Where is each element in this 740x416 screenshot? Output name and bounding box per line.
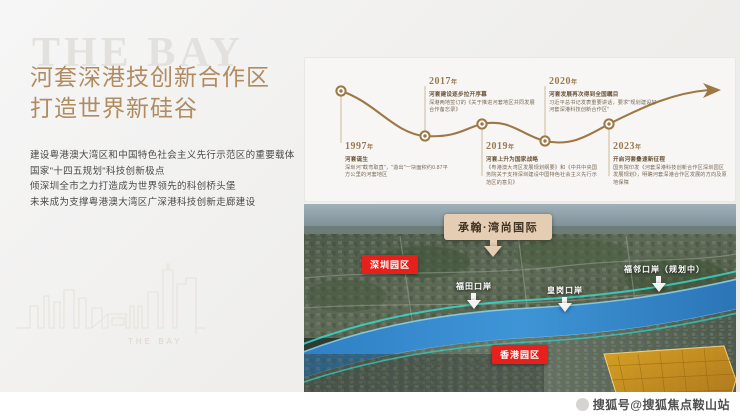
timeline-description: 《粤港澳大湾区发展规划纲要》和《中共中央国务院关于支持深圳建设中国特色社会主义先…: [486, 165, 600, 187]
map-label-hongkong-park[interactable]: 香港园区: [492, 345, 548, 364]
headline-line-2: 打造世界新硅谷: [30, 93, 270, 124]
timeline-headline: 河套建设逐步拉开序幕: [429, 90, 539, 98]
watermark-label: 搜狐号@搜狐焦点鞍山站: [576, 396, 730, 413]
headline-line-1: 河套深港技创新合作区: [30, 62, 270, 93]
map-label-project[interactable]: 承翰·湾尚国际: [444, 214, 552, 240]
body-copy: 建设粤港澳大湾区和中国特色社会主义先行示范区的重要载体 国家"十四五规划"科技创…: [30, 148, 295, 210]
watermark-text: 搜狐号@搜狐焦点鞍山站: [593, 398, 730, 412]
project-arrow-icon: [484, 246, 502, 257]
timeline-year: 2023年: [613, 141, 727, 152]
map-label-shenzhen-park[interactable]: 深圳园区: [362, 255, 418, 274]
timeline-year: 2020年: [549, 76, 661, 87]
huanggang-arrow-icon: [558, 303, 572, 312]
body-line-2: 国家"十四五规划"科技创新极点: [30, 164, 295, 180]
body-line-3: 倾深圳全市之力打造成为世界领先的科创桥头堡: [30, 179, 295, 195]
timeline-item-2020: 2020年 河套发展再次得到全国瞩目 习近平总书记发表重要讲话，要求"规划建设好…: [549, 76, 661, 115]
timeline-headline: 河套上升为国家战略: [486, 155, 600, 163]
timeline-item-2023: 2023年 开启河套叠速新征程 国务院印发《河套深港科技创新合作区深圳园区发展规…: [613, 141, 727, 187]
body-line-1: 建设粤港澳大湾区和中国特色社会主义先行示范区的重要载体: [30, 148, 295, 164]
map-label-new-port[interactable]: 福邻口岸（规划中）: [624, 264, 705, 275]
timeline-description: 国务院印发《河套深港科技创新合作区深圳园区发展规划》，明确河套深港合作区发展的方…: [613, 165, 727, 187]
timeline-item-2017: 2017年 河套建设逐步拉开序幕 深港两地签订的《关于推进河套地区共同发展合作备…: [429, 76, 539, 115]
timeline-chart: 1997年 河套诞生 深圳河"截弯取直"，"造出"一块面积约0.87平方公里的河…: [304, 57, 736, 202]
watermark-bar: 搜狐号@搜狐焦点鞍山站: [0, 392, 740, 416]
timeline-headline: 开启河套叠速新征程: [613, 155, 727, 163]
timeline-year: 2017年: [429, 76, 539, 87]
timeline-item-2019: 2019年 河套上升为国家战略 《粤港澳大湾区发展规划纲要》和《中共中央国务院关…: [486, 141, 600, 187]
timeline-description: 深港两地签订的《关于推进河套地区共同发展合作备忘录》: [429, 100, 539, 115]
timeline-description: 习近平总书记发表重要讲话，要求"规划建设好河套深港科技创新合作区": [549, 100, 661, 115]
slide-root: THE BAY 河套深港技创新合作区 打造世界新硅谷 建设粤港澳大湾区和中国特色…: [0, 0, 740, 416]
timeline-headline: 河套发展再次得到全国瞩目: [549, 90, 661, 98]
page-title: 河套深港技创新合作区 打造世界新硅谷: [30, 62, 270, 124]
timeline-description: 深圳河"截弯取直"，"造出"一块面积约0.87平方公里的河套地区: [345, 165, 453, 180]
futian-arrow-icon: [467, 300, 481, 309]
map-label-futian-port[interactable]: 福田口岸: [456, 281, 492, 292]
timeline-year: 2019年: [486, 141, 600, 152]
body-line-4: 未来成为支撑粤港澳大湾区广深港科技创新走廊建设: [30, 195, 295, 211]
skyline-caption: THE BAY: [128, 337, 183, 346]
timeline-year: 1997年: [345, 141, 453, 152]
timeline-item-1997: 1997年 河套诞生 深圳河"截弯取直"，"造出"一块面积约0.87平方公里的河…: [345, 141, 453, 180]
new-port-arrow-icon: [652, 283, 666, 292]
sohu-logo-icon: [576, 398, 589, 411]
right-panel: 1997年 河套诞生 深圳河"截弯取直"，"造出"一块面积约0.87平方公里的河…: [304, 57, 736, 407]
skyline-watermark-icon: [16, 262, 206, 342]
timeline-headline: 河套诞生: [345, 155, 453, 163]
left-panel: THE BAY 河套深港技创新合作区 打造世界新硅谷 建设粤港澳大湾区和中国特色…: [0, 0, 300, 416]
map-label-huanggang-port[interactable]: 皇岗口岸: [547, 285, 583, 296]
aerial-map[interactable]: 承翰·湾尚国际 深圳园区 香港园区 福田口岸 皇岗口岸 福邻口岸（规划中） 效果…: [304, 204, 736, 407]
